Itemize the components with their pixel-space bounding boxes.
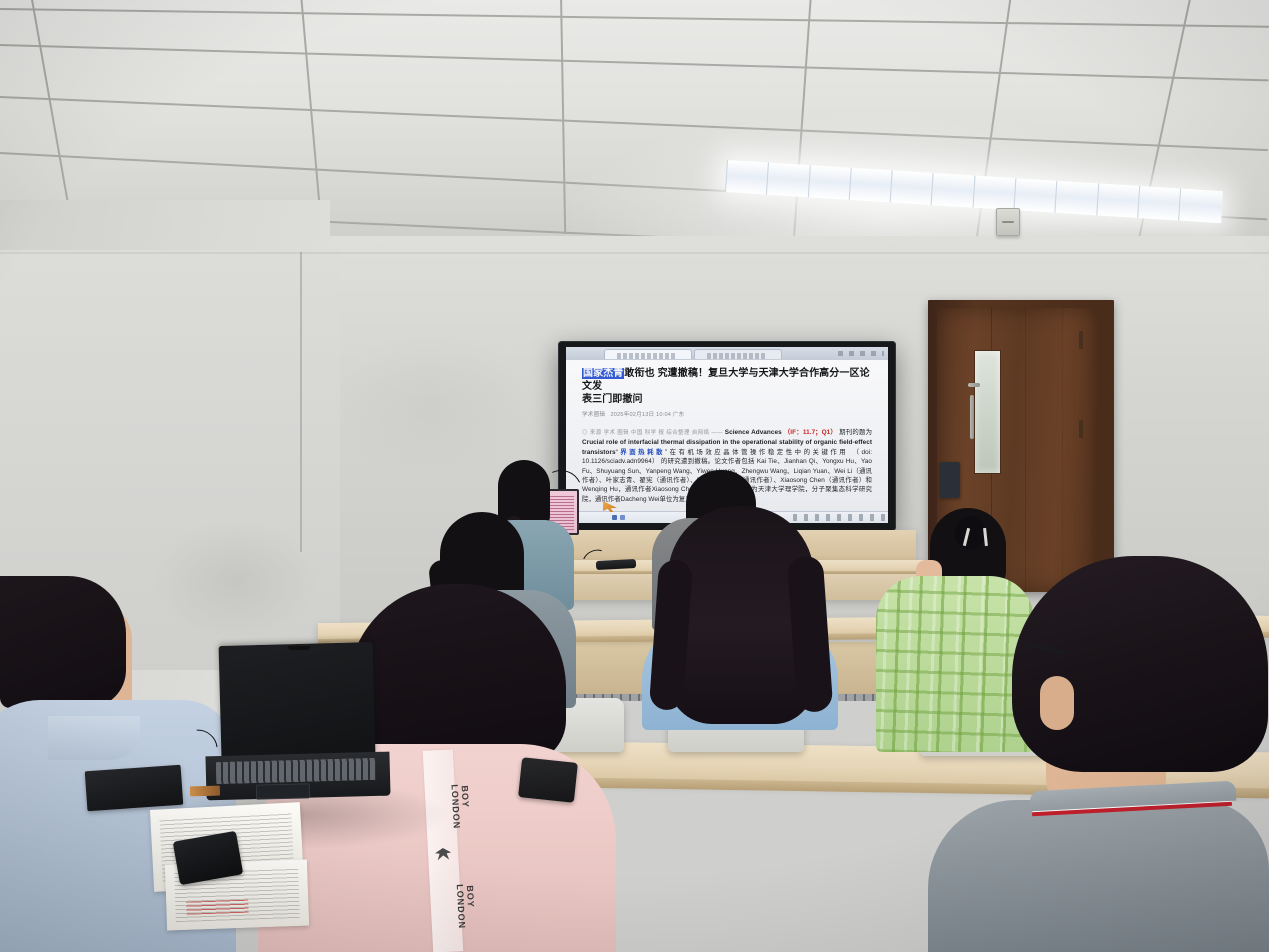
shirt-brand-text-2: BOY LONDON — [415, 883, 476, 912]
laptop-sticker — [190, 786, 220, 797]
window-controls[interactable] — [838, 351, 884, 356]
ear — [1040, 676, 1074, 730]
torso-grey-polo — [928, 800, 1269, 952]
wall-mounted-sensor-box — [996, 208, 1020, 236]
wall-ceiling-seam — [0, 252, 1269, 254]
taskbar-tray[interactable] — [793, 514, 885, 521]
hair — [1012, 556, 1268, 772]
door-hinge — [1079, 331, 1083, 349]
door-hinge — [1079, 420, 1083, 438]
taskbar-icon[interactable] — [612, 515, 617, 520]
article-title-rest: 敢衔也 究遭撤稿！复旦大学与天津大学合作高分一区论文发 — [582, 368, 870, 392]
door-access-panel[interactable] — [940, 462, 960, 498]
article-source-prefix: ◎ 来源 学术 圈辑 中国 科学 报 综合整理 自网络 —— — [582, 430, 725, 436]
article-title: 国家杰青敢衔也 究遭撤稿！复旦大学与天津大学合作高分一区论文发 表三门即撤问 — [582, 367, 872, 406]
article-body-zh1: 期刊的题为 — [839, 429, 872, 436]
torso-green-plaid — [876, 576, 1034, 752]
door-handle[interactable] — [968, 383, 980, 387]
laptop-screen[interactable] — [219, 642, 376, 758]
browser-chrome — [566, 347, 888, 361]
article-journal: Science Advances — [725, 429, 782, 436]
article-title-line2: 表三门即撤问 — [582, 394, 643, 405]
hair — [0, 576, 126, 708]
door-glass-panel — [974, 350, 1001, 474]
laptop-touchpad[interactable] — [256, 783, 310, 799]
laptop-keyboard[interactable] — [216, 758, 377, 784]
door-handle-bar[interactable] — [970, 395, 974, 439]
shirt-collar — [48, 716, 140, 760]
article-paper-title-zh: 界面热耗散 — [618, 449, 665, 456]
eagle-logo-icon — [435, 848, 452, 861]
browser-tab-1[interactable] — [604, 349, 692, 359]
hair-bun — [955, 516, 985, 550]
wall-smudge — [330, 330, 530, 480]
article-byline: 学术圈辑 — [582, 412, 605, 418]
wall-smudge — [150, 520, 320, 640]
article-body-zh2: 在有机场效应晶体管操作稳定性中的关键作用 — [667, 449, 848, 456]
article-impact-badge: （IF：11.7；Q1） — [784, 429, 837, 436]
wall-seam — [300, 252, 302, 552]
smartphone[interactable] — [518, 757, 578, 803]
black-notebook[interactable] — [85, 765, 184, 812]
browser-tab-2[interactable] — [694, 349, 782, 359]
article-byline-row: 学术圈辑 2025年02月13日 10:04 广东 — [582, 411, 872, 420]
classroom-photo-scene: 国家杰青敢衔也 究遭撤稿！复旦大学与天津大学合作高分一区论文发 表三门即撤问 学… — [0, 0, 1269, 952]
shirt-brand-text: BOY LONDON — [410, 784, 471, 813]
article-date: 2025年02月13日 10:04 广东 — [610, 412, 684, 418]
article-title-highlight: 国家杰青 — [582, 368, 624, 379]
laptop-webcam-notch — [288, 646, 310, 650]
taskbar-icon[interactable] — [620, 515, 625, 520]
